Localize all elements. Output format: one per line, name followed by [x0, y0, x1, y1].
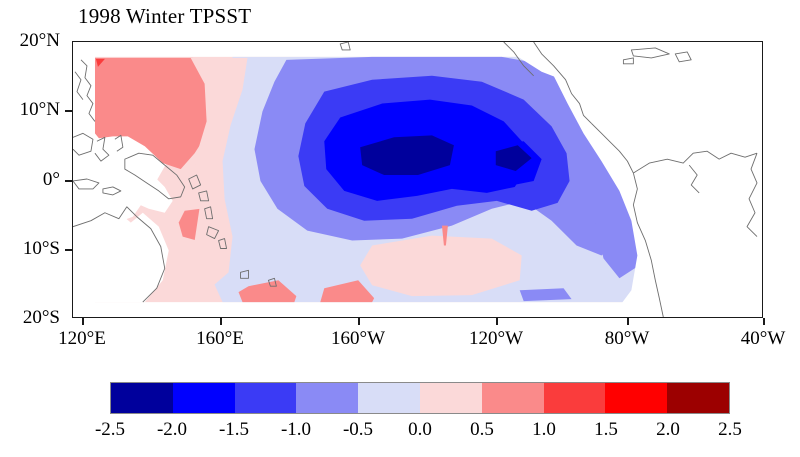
x-axis-tick-40w [763, 318, 765, 325]
colorbar-tick-label-7: 1.0 [532, 419, 556, 441]
colorbar-band-5[interactable] [420, 383, 482, 413]
y-axis-label-20s: 20°S [0, 307, 60, 329]
y-axis-tick-10s [65, 249, 72, 251]
y-axis-label-10n: 10°N [0, 99, 60, 121]
x-axis-label-160w: 160°W [331, 328, 385, 350]
y-axis-label-10s: 10°S [0, 238, 60, 260]
x-axis-label-80w: 80°W [605, 328, 650, 350]
y-axis-tick-0 [65, 180, 72, 182]
y-axis-tick-10n [65, 110, 72, 112]
colorbar-tick-label-8: 1.5 [594, 419, 618, 441]
colorbar-band-7[interactable] [544, 383, 606, 413]
colorbar-tick-label-0: -2.5 [95, 419, 125, 441]
x-axis-label-160e: 160°E [196, 328, 244, 350]
colorbar-tick-label-6: 0.5 [470, 419, 494, 441]
colorbar-band-8[interactable] [605, 383, 667, 413]
x-axis-tick-120e [82, 318, 84, 325]
colorbar-tick-label-3: -1.0 [281, 419, 311, 441]
contour-warm-patch-southeast [360, 236, 522, 297]
colorbar-band-6[interactable] [482, 383, 544, 413]
page-title: 1998 Winter TPSST [78, 4, 251, 29]
colorbar-tick-label-4: -0.5 [343, 419, 373, 441]
colorbar-tick-label-1: -2.0 [157, 419, 187, 441]
colorbar-band-3[interactable] [296, 383, 358, 413]
colorbar-tick-label-9: 2.0 [656, 419, 680, 441]
colorbar-tick-label-10: 2.5 [718, 419, 742, 441]
map-plot-area[interactable] [72, 41, 763, 318]
colorbar-tick-label-5: 0.0 [408, 419, 432, 441]
x-axis-label-120w: 120°W [469, 328, 523, 350]
sst-anomaly-contour-field [73, 42, 762, 317]
colorbar-tick-label-2: -1.5 [219, 419, 249, 441]
contour-patch-south-coastal [520, 288, 572, 301]
x-axis-label-120e: 120°E [58, 328, 106, 350]
landmask-australia [73, 211, 169, 302]
colorbar[interactable] [110, 382, 730, 414]
x-axis-label-40w: 40°W [741, 328, 786, 350]
figure-canvas: 1998 Winter TPSST [0, 0, 800, 457]
colorbar-band-4[interactable] [358, 383, 420, 413]
colorbar-band-1[interactable] [173, 383, 235, 413]
colorbar-bands[interactable] [110, 382, 730, 414]
x-axis-tick-160w [358, 318, 360, 325]
colorbar-band-0[interactable] [111, 383, 173, 413]
y-axis-label-0: 0° [0, 169, 60, 191]
x-axis-tick-120w [496, 318, 498, 325]
x-axis-tick-80w [627, 318, 629, 325]
y-axis-label-20n: 20°N [0, 30, 60, 52]
x-axis-tick-160e [220, 318, 222, 325]
colorbar-band-2[interactable] [235, 383, 297, 413]
colorbar-band-9[interactable] [667, 383, 729, 413]
